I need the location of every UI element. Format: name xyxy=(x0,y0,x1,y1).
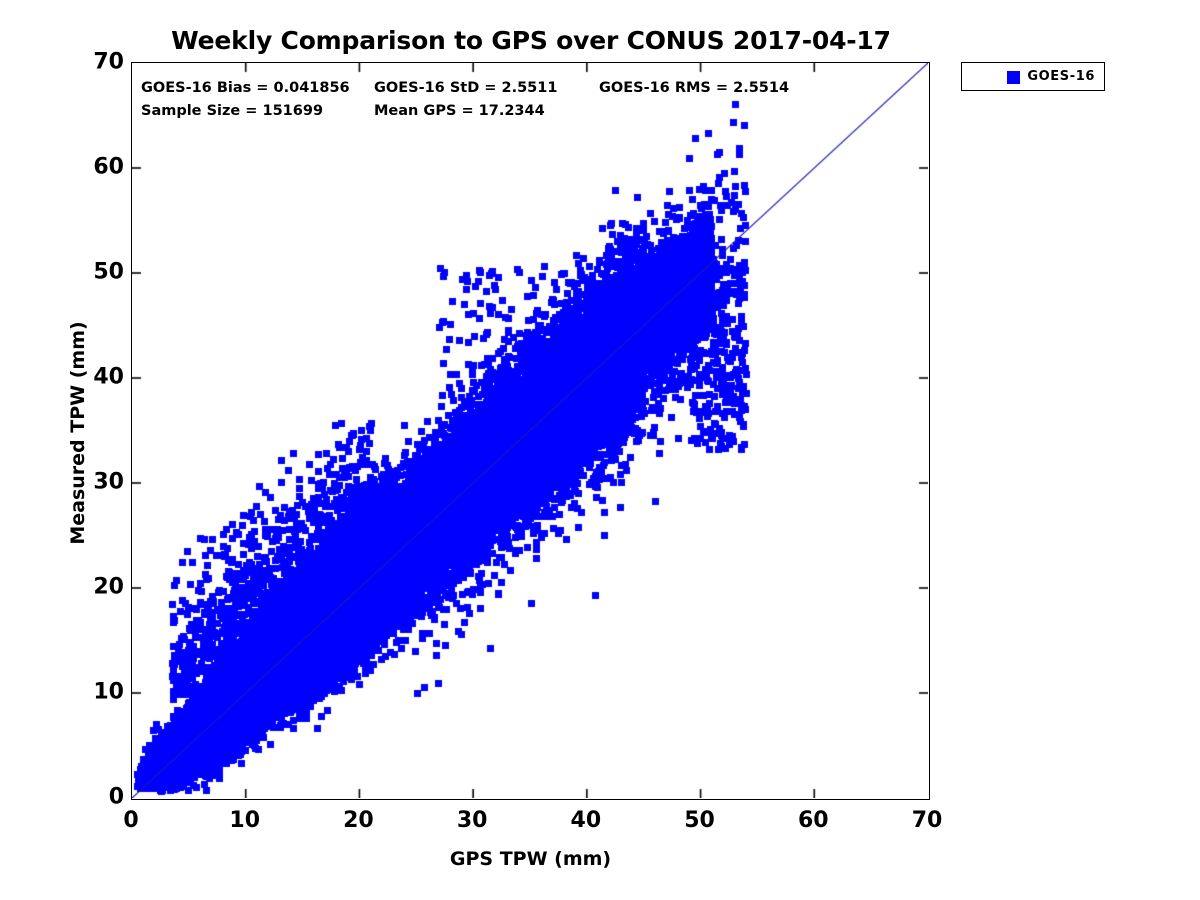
y-tick-label-50: 50 xyxy=(78,260,124,285)
x-tick-label-30: 30 xyxy=(437,808,507,833)
plot-area[interactable] xyxy=(131,62,930,800)
x-tick-label-50: 50 xyxy=(665,808,735,833)
legend[interactable]: GOES-16 xyxy=(961,62,1105,91)
x-tick-label-70: 70 xyxy=(892,808,962,833)
y-tick-label-0: 0 xyxy=(78,785,124,810)
x-tick-label-0: 0 xyxy=(96,808,166,833)
annotation-4: Mean GPS = 17.2344 xyxy=(374,103,545,119)
chart-figure: Weekly Comparison to GPS over CONUS 2017… xyxy=(0,0,1200,900)
annotation-3: Sample Size = 151699 xyxy=(141,103,323,119)
chart-title: Weekly Comparison to GPS over CONUS 2017… xyxy=(131,26,931,55)
x-tick-label-40: 40 xyxy=(551,808,621,833)
y-tick-label-10: 10 xyxy=(78,680,124,705)
x-tick-label-10: 10 xyxy=(210,808,280,833)
y-axis-label: Measured TPW (mm) xyxy=(67,303,89,563)
x-axis-label: GPS TPW (mm) xyxy=(131,848,930,870)
annotation-2: GOES-16 RMS = 2.5514 xyxy=(599,80,789,96)
annotation-0: GOES-16 Bias = 0.041856 xyxy=(141,80,350,96)
axis-tick-marks xyxy=(132,63,928,798)
x-tick-label-60: 60 xyxy=(778,808,848,833)
x-axis-tick-labels: 010203040506070 xyxy=(131,808,930,838)
y-tick-label-60: 60 xyxy=(78,155,124,180)
y-tick-label-20: 20 xyxy=(78,575,124,600)
y-tick-label-70: 70 xyxy=(78,50,124,75)
x-tick-label-20: 20 xyxy=(323,808,393,833)
legend-label-goes16: GOES-16 xyxy=(1027,69,1095,84)
legend-swatch-goes16 xyxy=(1007,71,1020,84)
annotation-1: GOES-16 StD = 2.5511 xyxy=(374,80,557,96)
